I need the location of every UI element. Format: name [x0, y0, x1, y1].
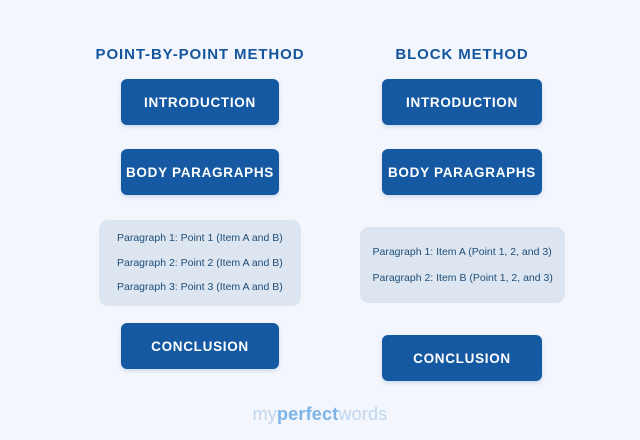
- logo-text-my: my: [253, 404, 277, 424]
- block-method-introduction-box[interactable]: INTRODUCTION: [382, 79, 542, 125]
- block-method-conclusion-box[interactable]: CONCLUSION: [382, 335, 542, 381]
- block-method-heading: BLOCK METHOD: [395, 47, 528, 62]
- detail-line: Paragraph 1: Point 1 (Item A and B): [117, 233, 301, 244]
- diagram-canvas: POINT-BY-POINT METHOD INTRODUCTION BODY …: [0, 0, 640, 440]
- point-by-point-body-paragraphs-box[interactable]: BODY PARAGRAPHS: [121, 149, 279, 195]
- block-method-column: BLOCK METHOD INTRODUCTION BODY PARAGRAPH…: [322, 0, 602, 440]
- detail-line: Paragraph 3: Point 3 (Item A and B): [117, 282, 301, 293]
- detail-line: Paragraph 1: Item A (Point 1, 2, and 3): [373, 247, 565, 258]
- detail-line: Paragraph 2: Item B (Point 1, 2, and 3): [373, 273, 565, 284]
- detail-line: Paragraph 2: Point 2 (Item A and B): [117, 258, 301, 269]
- brand-logo: myperfectwords: [0, 405, 640, 424]
- point-by-point-column: POINT-BY-POINT METHOD INTRODUCTION BODY …: [50, 0, 350, 440]
- block-method-body-paragraphs-box[interactable]: BODY PARAGRAPHS: [382, 149, 542, 195]
- point-by-point-detail-panel: Paragraph 1: Point 1 (Item A and B) Para…: [99, 220, 301, 306]
- point-by-point-introduction-box[interactable]: INTRODUCTION: [121, 79, 279, 125]
- point-by-point-conclusion-box[interactable]: CONCLUSION: [121, 323, 279, 369]
- point-by-point-heading: POINT-BY-POINT METHOD: [96, 47, 305, 62]
- logo-text-perfect: perfect: [277, 404, 338, 424]
- block-method-detail-panel: Paragraph 1: Item A (Point 1, 2, and 3) …: [360, 227, 565, 303]
- logo-text-words: words: [338, 404, 387, 424]
